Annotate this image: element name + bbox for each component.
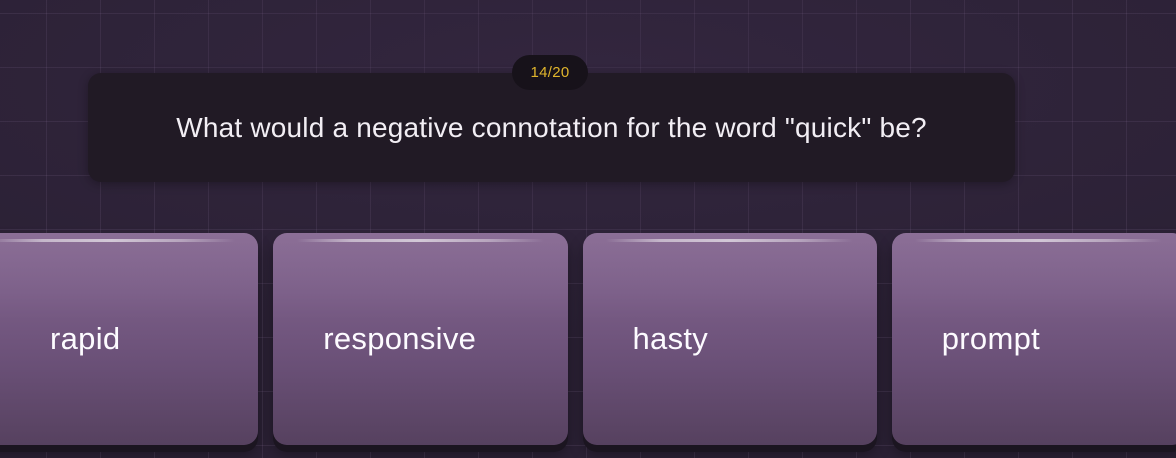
- answer-option-label: responsive: [273, 321, 476, 357]
- question-text: What would a negative connotation for th…: [148, 110, 955, 145]
- answer-option-prompt[interactable]: prompt: [892, 233, 1176, 445]
- answer-option-responsive[interactable]: responsive: [273, 233, 567, 445]
- progress-badge: 14/20: [512, 55, 588, 90]
- answer-option-hasty[interactable]: hasty: [583, 233, 877, 445]
- answer-options-row: rapid responsive hasty prompt: [0, 233, 1176, 445]
- answer-option-label: prompt: [892, 321, 1040, 357]
- quiz-stage: What would a negative connotation for th…: [0, 0, 1176, 458]
- progress-badge-label: 14/20: [530, 64, 569, 81]
- answer-option-label: hasty: [583, 321, 709, 357]
- answer-option-label: rapid: [0, 321, 120, 357]
- answer-option-rapid[interactable]: rapid: [0, 233, 258, 445]
